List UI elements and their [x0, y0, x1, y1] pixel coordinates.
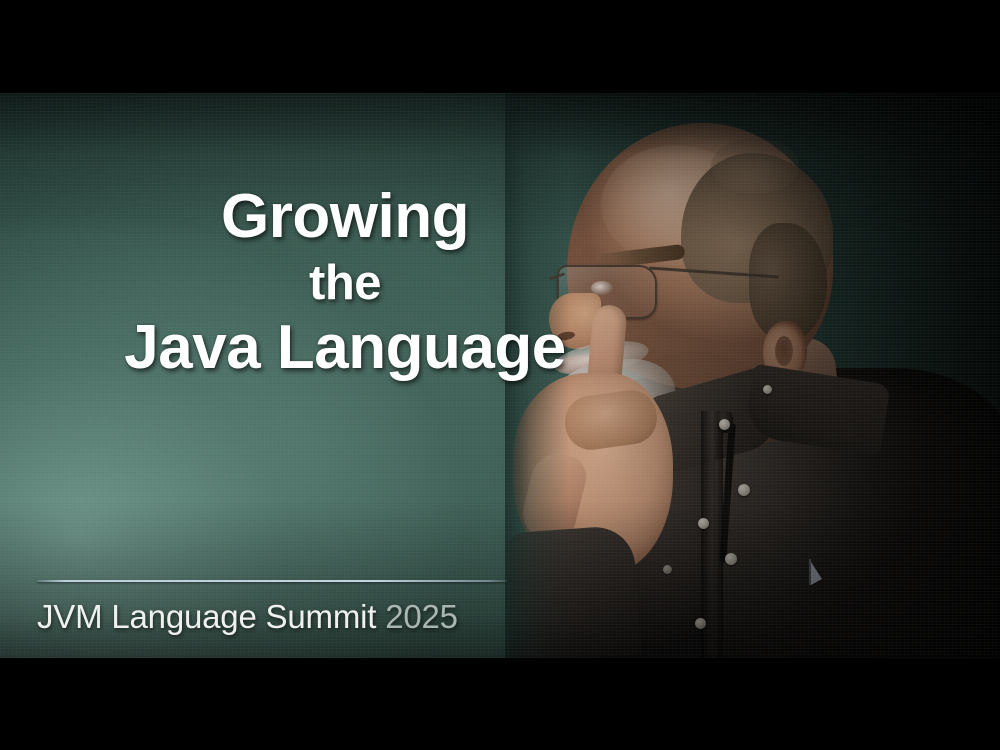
presentation-slide: Growing the Java Language JVM Language S…	[0, 93, 1000, 658]
shirt-cuff	[505, 525, 641, 658]
shirt-button	[719, 419, 730, 430]
title-line-3: Java Language	[0, 317, 690, 379]
speaker-ear-inner	[775, 336, 793, 366]
shirt-button	[698, 518, 709, 529]
shirt-button	[725, 553, 737, 565]
shirt-button	[738, 484, 750, 496]
footer-divider	[37, 580, 507, 582]
video-frame: Growing the Java Language JVM Language S…	[0, 0, 1000, 750]
slide-title: Growing the Java Language	[0, 186, 690, 379]
footer-event-name: JVM Language Summit	[37, 598, 376, 635]
slide-footer: JVM Language Summit2025	[37, 580, 507, 636]
title-line-1: Growing	[0, 186, 690, 248]
footer-event-year: 2025	[385, 598, 458, 635]
shirt-button	[663, 565, 672, 574]
title-line-2: the	[0, 259, 690, 308]
sail-logo-icon	[811, 562, 822, 585]
letterbox-bar-top	[0, 0, 1000, 93]
shirt-button	[695, 618, 706, 629]
shirt-button	[763, 385, 772, 394]
footer-text: JVM Language Summit2025	[37, 598, 507, 636]
letterbox-bar-bottom	[0, 658, 1000, 750]
speaker-hair-wisp	[711, 138, 799, 194]
